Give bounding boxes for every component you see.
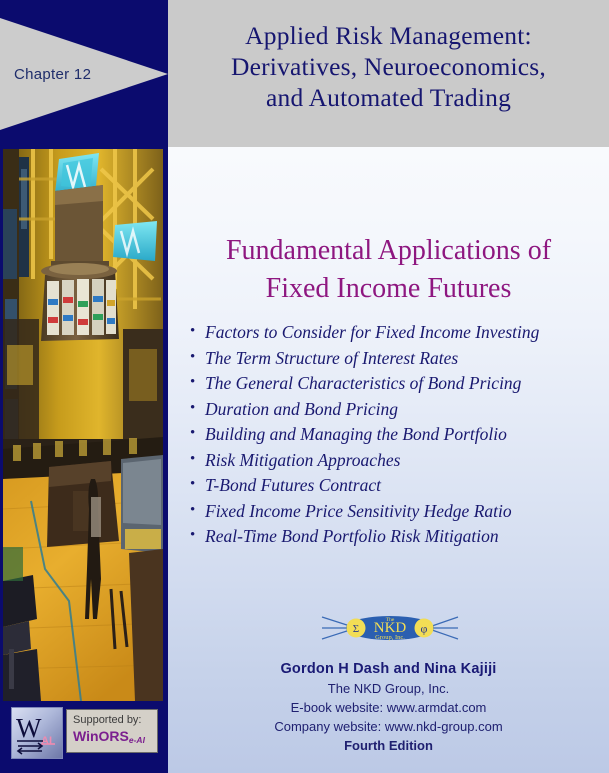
svg-text:Σ: Σ bbox=[353, 623, 359, 635]
company-website: Company website: www.nkd-group.com bbox=[168, 717, 609, 736]
header-right-panel: Applied Risk Management: Derivatives, Ne… bbox=[168, 0, 609, 147]
book-title-line-3: and Automated Trading bbox=[168, 82, 609, 113]
book-title: Applied Risk Management: Derivatives, Ne… bbox=[168, 20, 609, 113]
topic-list: Factors to Consider for Fixed Income Inv… bbox=[190, 320, 609, 550]
ebook-website: E-book website: www.armdat.com bbox=[168, 698, 609, 717]
book-cover-page: Chapter 12 Applied Risk Management: Deri… bbox=[0, 0, 609, 773]
section-title-line-2: Fixed Income Futures bbox=[168, 270, 609, 308]
cover-footer: Gordon H Dash and Nina Kajiji The NKD Gr… bbox=[168, 659, 609, 755]
list-item: T-Bond Futures Contract bbox=[190, 473, 609, 499]
supported-by-label: Supported by: bbox=[73, 714, 157, 727]
cover-body: Fundamental Applications of Fixed Income… bbox=[168, 147, 609, 773]
section-title-line-1: Fundamental Applications of bbox=[168, 232, 609, 270]
winors-support-box: Supported by: WinORSe-AI bbox=[66, 709, 158, 753]
edition-label: Fourth Edition bbox=[168, 736, 609, 755]
list-item: Fixed Income Price Sensitivity Hedge Rat… bbox=[190, 499, 609, 525]
section-title: Fundamental Applications of Fixed Income… bbox=[168, 232, 609, 308]
list-item: Real-Time Bond Portfolio Risk Mitigation bbox=[190, 524, 609, 550]
list-item: The Term Structure of Interest Rates bbox=[190, 346, 609, 372]
header-left-panel: Chapter 12 bbox=[0, 0, 168, 147]
author-names: Gordon H Dash and Nina Kajiji bbox=[168, 659, 609, 679]
list-item: The General Characteristics of Bond Pric… bbox=[190, 371, 609, 397]
nkd-group-logo-icon: Σ φ The NKD Group, Inc. bbox=[320, 609, 460, 647]
list-item: Building and Managing the Bond Portfolio bbox=[190, 422, 609, 448]
svg-text:Group, Inc.: Group, Inc. bbox=[375, 634, 405, 641]
w-ai-logo-badge: W AI bbox=[11, 707, 63, 759]
svg-text:W: W bbox=[16, 713, 42, 743]
book-title-line-1: Applied Risk Management: bbox=[168, 20, 609, 51]
left-photo-column: W AI Supported by: WinORSe-AI bbox=[0, 147, 168, 773]
list-item: Risk Mitigation Approaches bbox=[190, 448, 609, 474]
chapter-label: Chapter 12 bbox=[14, 66, 91, 83]
book-title-line-2: Derivatives, Neuroeconomics, bbox=[168, 51, 609, 82]
list-item: Factors to Consider for Fixed Income Inv… bbox=[190, 320, 609, 346]
trading-floor-illustration bbox=[3, 149, 163, 701]
trading-floor-photo bbox=[3, 149, 163, 701]
winors-product-name: WinORSe-AI bbox=[73, 728, 157, 746]
w-ai-logo-icon: W AI bbox=[12, 708, 60, 756]
winors-word: WinORS bbox=[73, 728, 129, 744]
company-name: The NKD Group, Inc. bbox=[168, 679, 609, 698]
list-item: Duration and Bond Pricing bbox=[190, 397, 609, 423]
cover-header: Chapter 12 Applied Risk Management: Deri… bbox=[0, 0, 609, 147]
svg-text:φ: φ bbox=[421, 622, 428, 636]
nkd-group-logo: Σ φ The NKD Group, Inc. bbox=[320, 609, 460, 647]
winors-suffix: e-AI bbox=[129, 735, 145, 745]
